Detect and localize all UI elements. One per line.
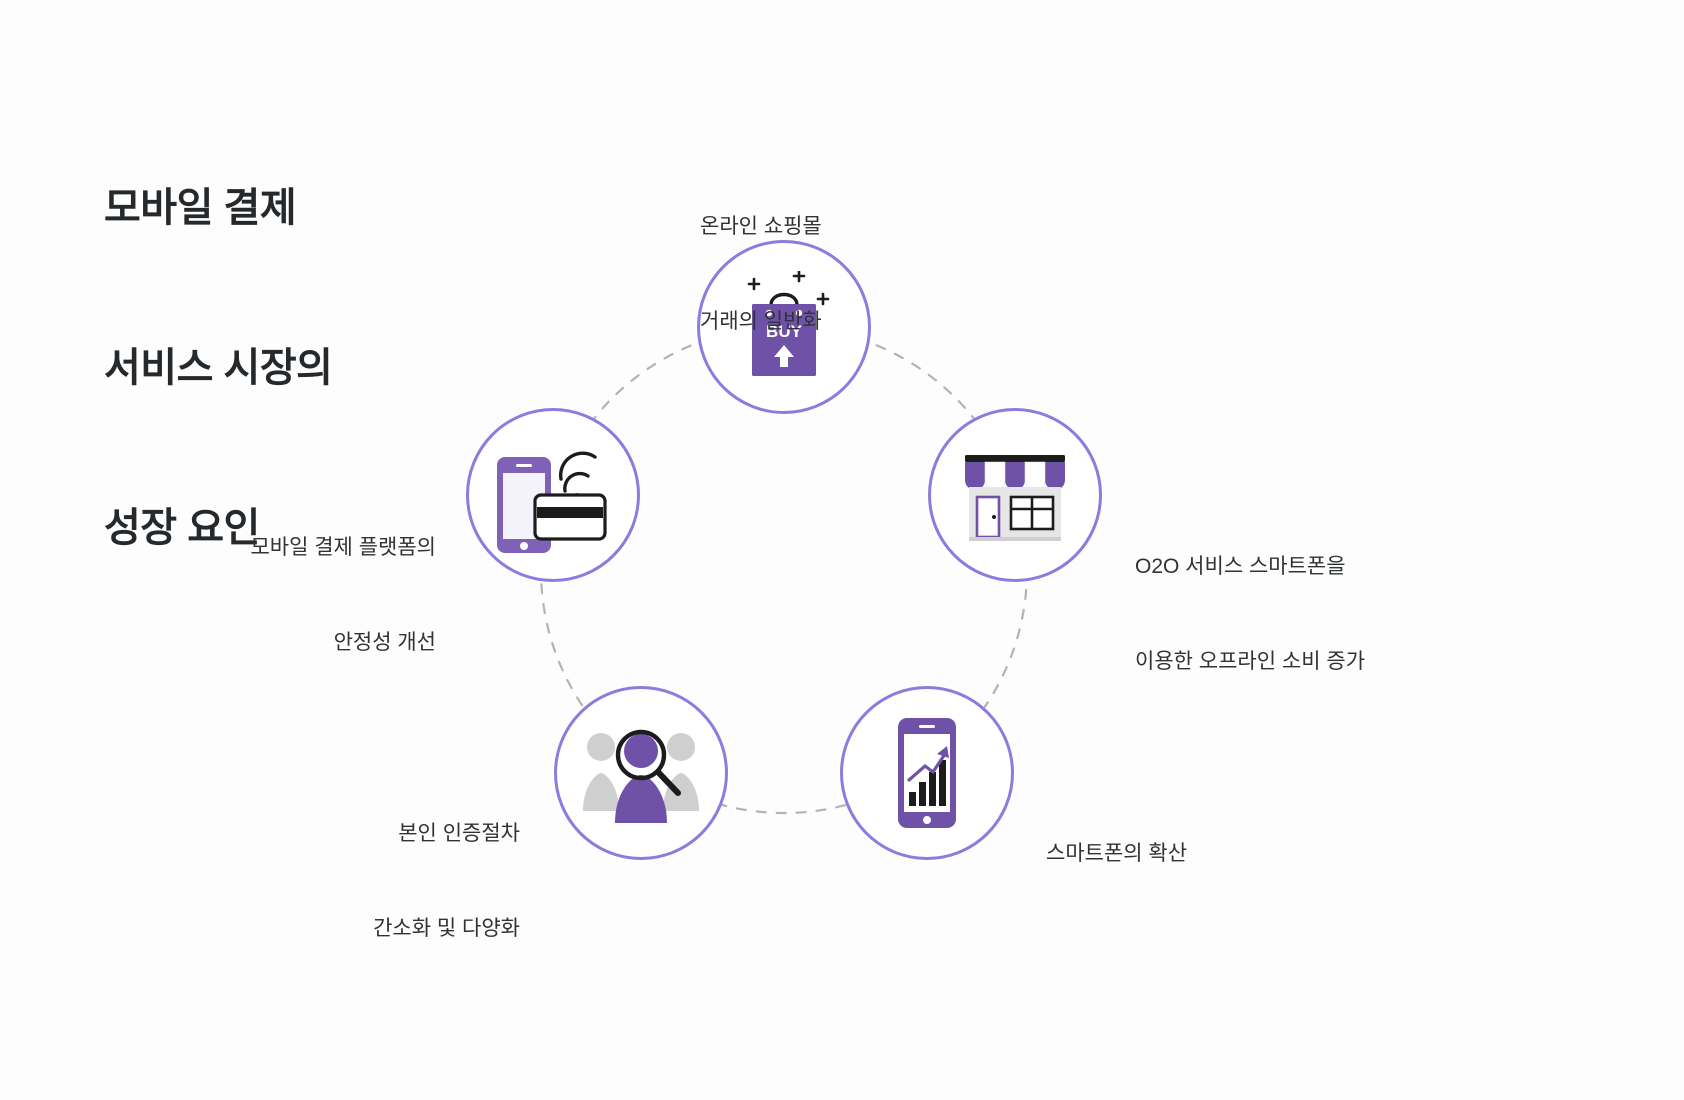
label-o2o-service-line-2: 이용한 오프라인 소비 증가 bbox=[1135, 646, 1365, 678]
label-online-shopping: 온라인 쇼핑몰 거래의 일반화 bbox=[700, 148, 822, 400]
label-o2o-service: O2O 서비스 스마트폰을 이용한 오프라인 소비 증가 bbox=[1135, 488, 1365, 740]
node-payment-platform[interactable] bbox=[466, 408, 640, 582]
page-title-line-2: 서비스 시장의 bbox=[104, 342, 332, 395]
mobile-contactless-card-icon bbox=[489, 433, 617, 557]
storefront-icon bbox=[957, 439, 1073, 551]
label-identity-verification-line-2: 간소화 및 다양화 bbox=[373, 913, 520, 945]
label-identity-verification-line-1: 본인 인증절차 bbox=[373, 818, 520, 850]
infographic-canvas: 모바일 결제 서비스 시장의 성장 요인 bbox=[0, 0, 1684, 1100]
label-payment-platform-line-1: 모바일 결제 플랫폼의 bbox=[250, 532, 436, 564]
people-magnifier-icon bbox=[579, 717, 703, 829]
page-title-line-1: 모바일 결제 bbox=[104, 182, 332, 235]
label-o2o-service-line-1: O2O 서비스 스마트폰을 bbox=[1135, 551, 1365, 583]
label-identity-verification: 본인 인증절차 간소화 및 다양화 bbox=[373, 755, 520, 1007]
node-smartphone-spread[interactable] bbox=[840, 686, 1014, 860]
label-online-shopping-line-1: 온라인 쇼핑몰 bbox=[700, 211, 822, 243]
node-identity-verification[interactable] bbox=[554, 686, 728, 860]
label-payment-platform-line-2: 안정성 개선 bbox=[250, 627, 436, 659]
node-o2o-service[interactable] bbox=[928, 408, 1102, 582]
label-smartphone-spread: 스마트폰의 확산 bbox=[1046, 775, 1187, 933]
smartphone-growth-chart-icon bbox=[881, 714, 973, 832]
label-smartphone-spread-line-1: 스마트폰의 확산 bbox=[1046, 838, 1187, 870]
label-online-shopping-line-2: 거래의 일반화 bbox=[700, 306, 822, 338]
label-payment-platform: 모바일 결제 플랫폼의 안정성 개선 bbox=[250, 469, 436, 721]
